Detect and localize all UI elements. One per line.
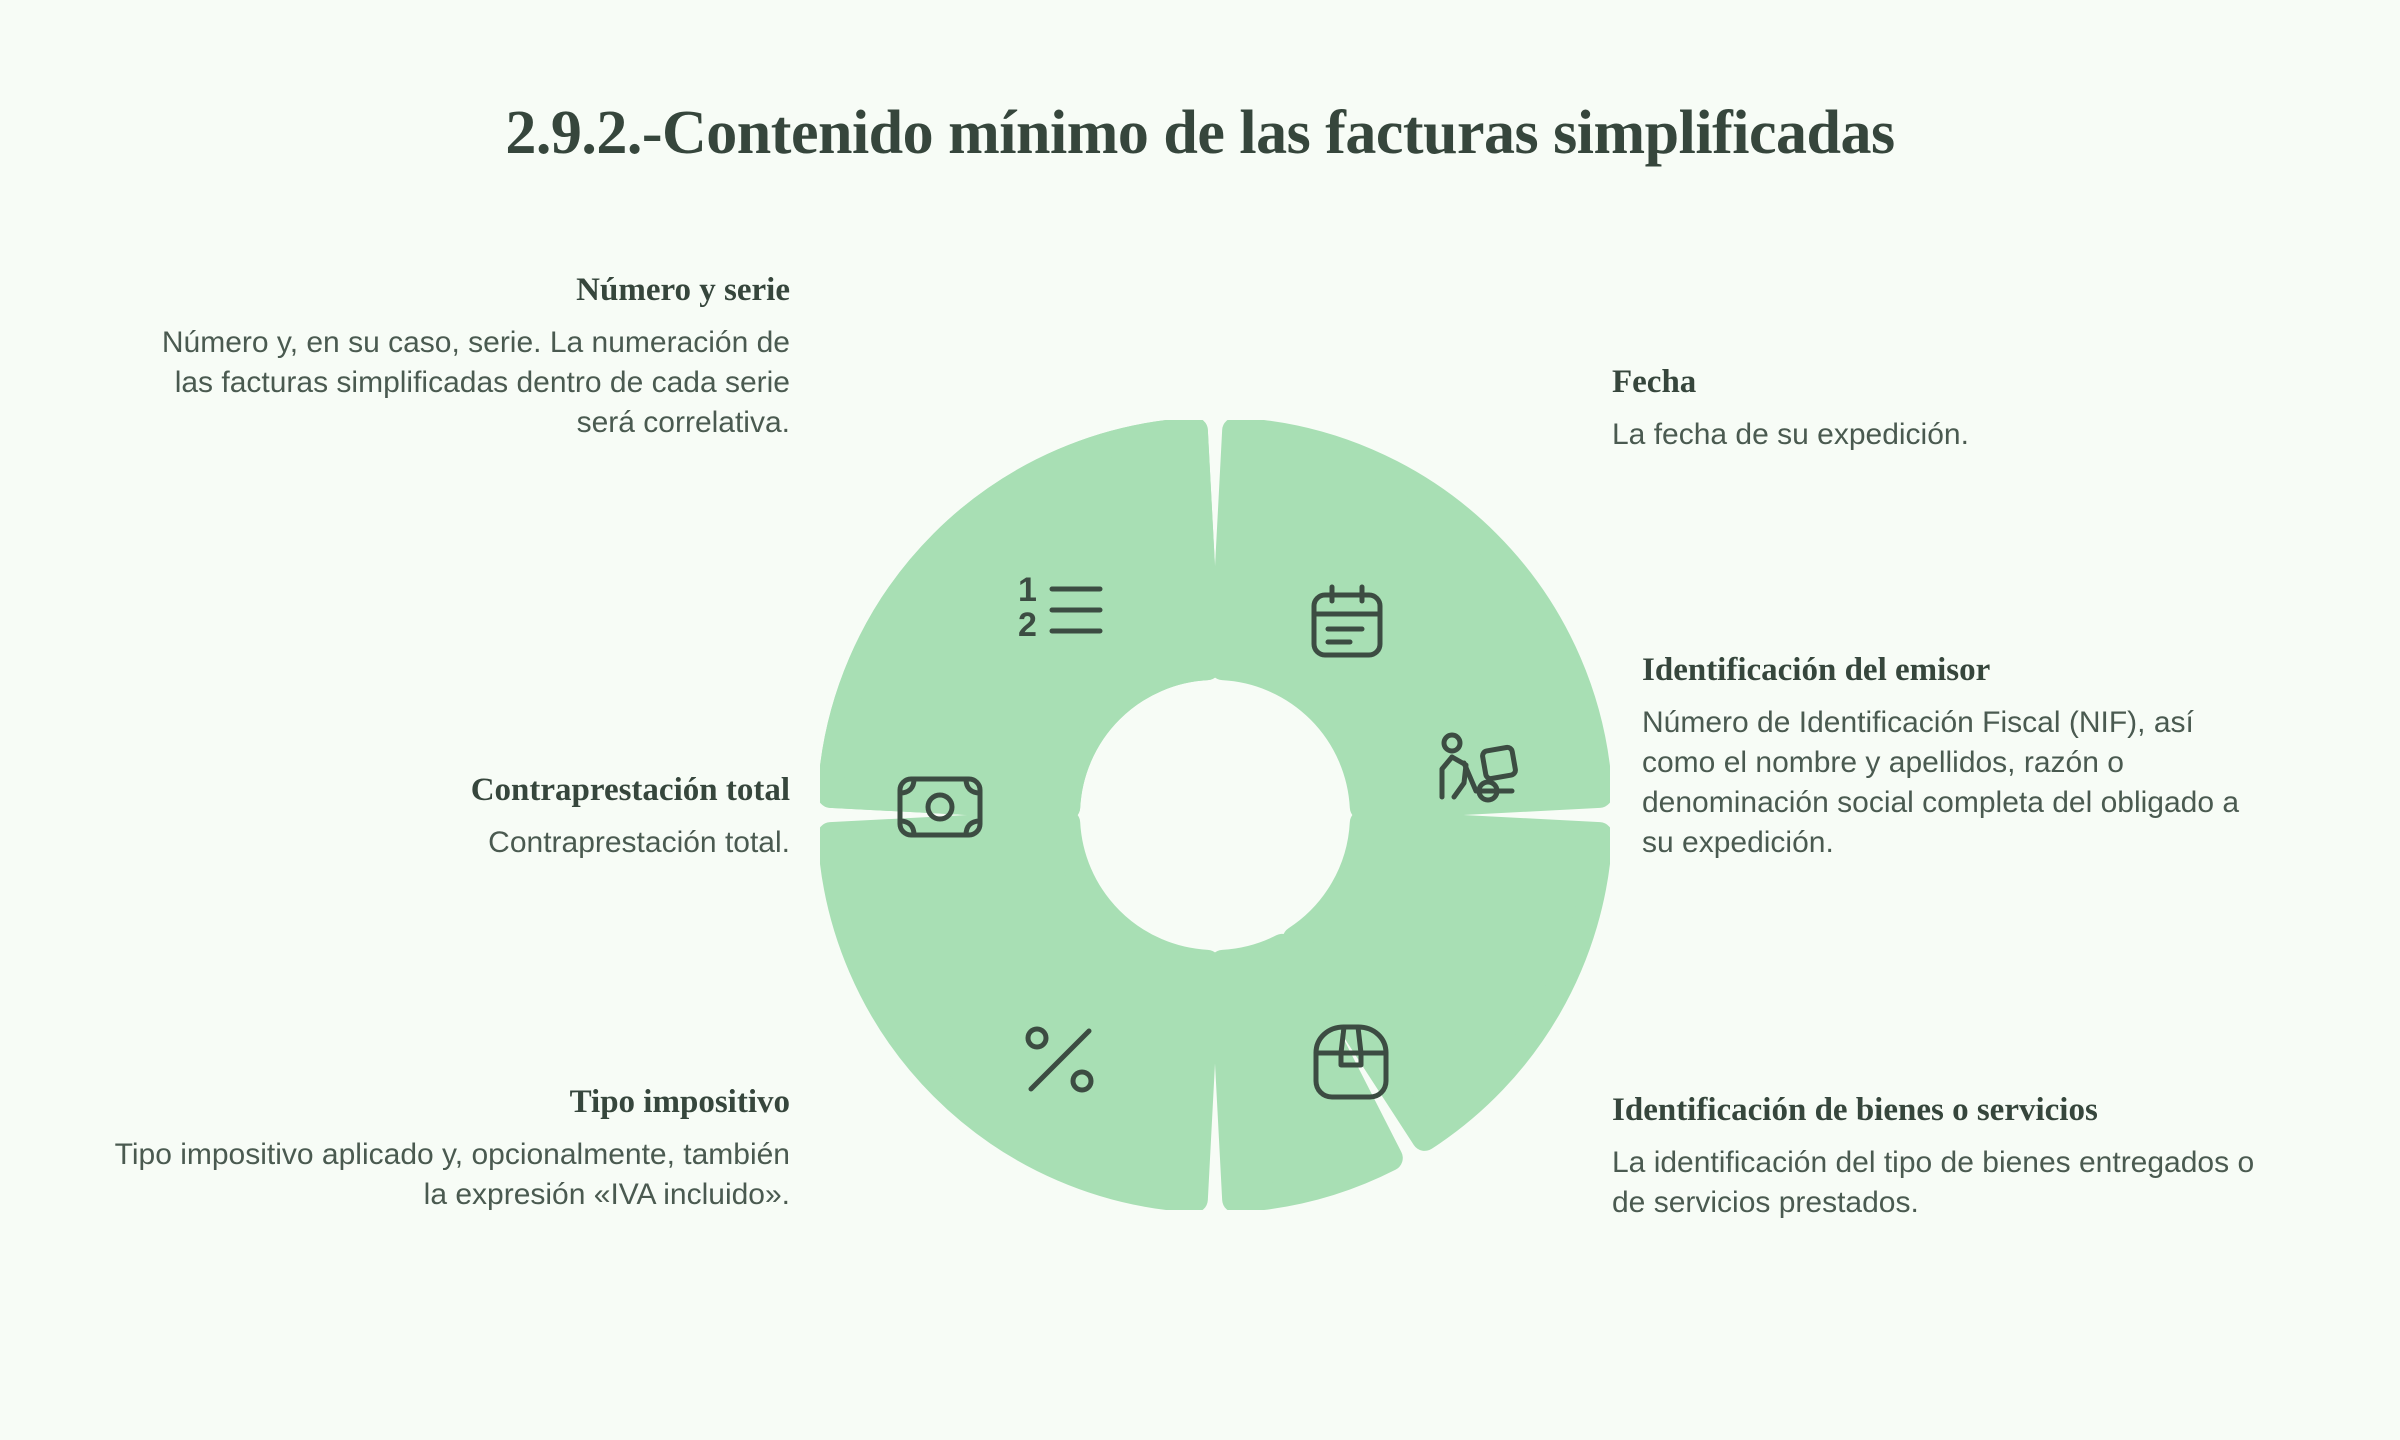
- page-title: 2.9.2.-Contenido mínimo de las facturas …: [0, 98, 2400, 169]
- info-block-tipo-impositivo: Tipo impositivo Tipo impositivo aplicado…: [110, 1082, 790, 1215]
- block-body-fecha: La fecha de su expedición.: [1612, 415, 2272, 455]
- block-title-fecha: Fecha: [1612, 362, 2272, 402]
- block-body-tipo-impositivo: Tipo impositivo aplicado y, opcionalment…: [110, 1135, 790, 1215]
- numbered-list-digit-one: 1: [1018, 571, 1037, 609]
- block-body-identificacion-bienes: La identificación del tipo de bienes ent…: [1612, 1143, 2262, 1223]
- block-title-identificacion-emisor: Identificación del emisor: [1642, 650, 2262, 690]
- info-block-numero-y-serie: Número y serie Número y, en su caso, ser…: [160, 270, 790, 443]
- block-title-identificacion-bienes: Identificación de bienes o servicios: [1612, 1090, 2262, 1130]
- block-title-contraprestacion-total: Contraprestación total: [160, 770, 790, 810]
- block-body-numero-y-serie: Número y, en su caso, serie. La numeraci…: [160, 323, 790, 443]
- donut-segment-tipo-impositivo[interactable]: [831, 823, 1208, 1200]
- block-title-numero-y-serie: Número y serie: [160, 270, 790, 310]
- donut-segment-fecha[interactable]: [1223, 431, 1600, 808]
- info-block-identificacion-emisor: Identificación del emisor Número de Iden…: [1642, 650, 2262, 863]
- info-block-fecha: Fecha La fecha de su expedición.: [1612, 362, 2272, 455]
- info-block-contraprestacion-total: Contraprestación total Contraprestación …: [160, 770, 790, 863]
- numbered-list-digit-two: 2: [1018, 606, 1037, 644]
- donut-diagram: 1 2: [820, 420, 1610, 1210]
- info-block-identificacion-bienes: Identificación de bienes o servicios La …: [1612, 1090, 2262, 1223]
- block-body-identificacion-emisor: Número de Identificación Fiscal (NIF), a…: [1642, 703, 2262, 863]
- block-title-tipo-impositivo: Tipo impositivo: [110, 1082, 790, 1122]
- block-body-contraprestacion-total: Contraprestación total.: [160, 823, 790, 863]
